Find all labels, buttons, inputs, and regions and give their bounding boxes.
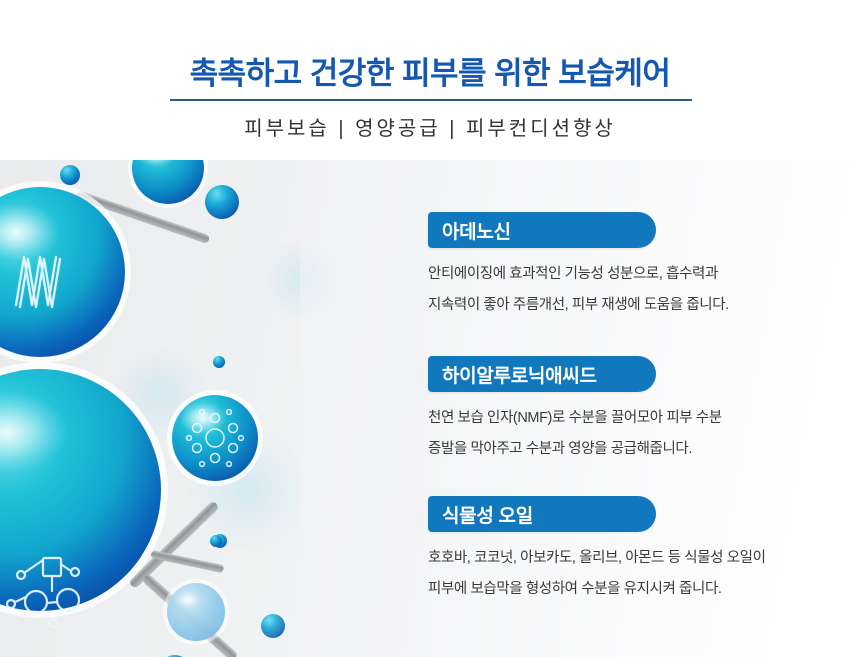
ingredient-badge: 하이알루로닉애씨드: [428, 356, 656, 392]
ingredient-description: 호호바, 코코넛, 아보카도, 올리브, 아몬드 등 식물성 오일이 피부에 보…: [428, 543, 848, 605]
molecule-illustration: [0, 160, 430, 657]
content-panel: 아데노신 안티에이징에 효과적인 기능성 성분으로, 흡수력과 지속력이 좋아 …: [0, 160, 860, 657]
page-header: 촉촉하고 건강한 피부를 위한 보습케어 피부보습 | 영양공급 | 피부컨디션…: [0, 0, 860, 160]
description-line: 증발을 막아주고 수분과 영양을 공급해줍니다.: [428, 434, 848, 465]
ingredient-badge: 식물성 오일: [428, 496, 656, 532]
ingredient-section-hyaluronic-acid: 하이알루로닉애씨드 천연 보습 인자(NMF)로 수분을 끌어모아 피부 수분 …: [428, 356, 848, 465]
description-line: 안티에이징에 효과적인 기능성 성분으로, 흡수력과: [428, 259, 848, 290]
bubble-pale: [163, 579, 229, 645]
title-divider: [170, 99, 692, 101]
description-line: 지속력이 좋아 주름개선, 피부 재생에 도움을 줍니다.: [428, 290, 848, 321]
page-subtitle: 피부보습 | 영양공급 | 피부컨디션향상: [0, 112, 860, 141]
bubble-top: [128, 160, 208, 208]
description-line: 천연 보습 인자(NMF)로 수분을 끌어모아 피부 수분: [428, 403, 848, 434]
ingredient-name: 아데노신: [442, 217, 511, 244]
bubble-atom: [167, 390, 263, 486]
description-line: 피부에 보습막을 형성하여 수분을 유지시켜 줍니다.: [428, 574, 848, 605]
ingredient-section-plant-oil: 식물성 오일 호호바, 코코넛, 아보카도, 올리브, 아몬드 등 식물성 오일…: [428, 496, 848, 605]
ingredient-description: 천연 보습 인자(NMF)로 수분을 끌어모아 피부 수분 증발을 막아주고 수…: [428, 403, 848, 465]
ingredient-section-adenosine: 아데노신 안티에이징에 효과적인 기능성 성분으로, 흡수력과 지속력이 좋아 …: [428, 212, 848, 321]
ingredient-description: 안티에이징에 효과적인 기능성 성분으로, 흡수력과 지속력이 좋아 주름개선,…: [428, 259, 848, 321]
description-line: 호호바, 코코넛, 아보카도, 올리브, 아몬드 등 식물성 오일이: [428, 543, 848, 574]
ingredient-name: 식물성 오일: [442, 501, 533, 528]
ingredient-badge: 아데노신: [428, 212, 656, 248]
page-title: 촉촉하고 건강한 피부를 위한 보습케어: [0, 48, 860, 93]
ingredient-name: 하이알루로닉애씨드: [442, 361, 597, 388]
